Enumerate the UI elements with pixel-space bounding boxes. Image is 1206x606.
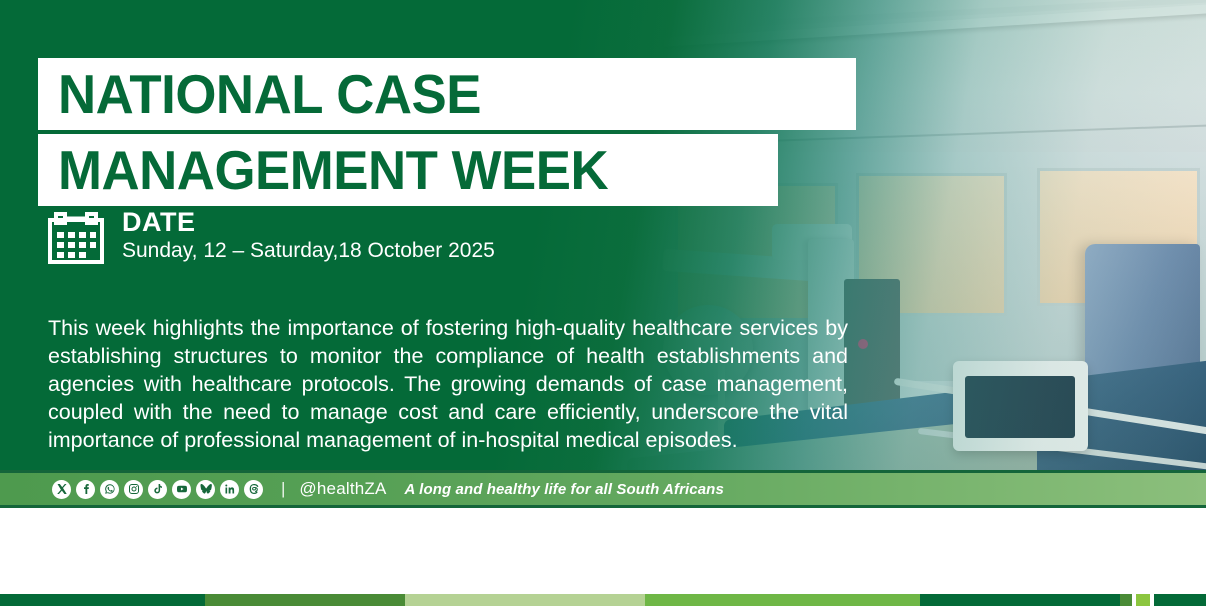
page-title-line2: MANAGEMENT WEEK — [58, 143, 608, 198]
footer-bar: health Department: Health REPUBLIC OF SO… — [0, 508, 1206, 594]
strip-segment — [205, 594, 405, 606]
strip-segment — [1154, 594, 1206, 606]
threads-icon[interactable] — [244, 480, 263, 499]
body-paragraph: This week highlights the importance of f… — [48, 314, 848, 455]
date-block: DATE Sunday, 12 – Saturday,18 October 20… — [48, 208, 495, 266]
bottom-color-strip — [0, 594, 1206, 606]
strip-segment — [645, 594, 920, 606]
date-label: DATE — [122, 208, 495, 236]
title-box-line2: MANAGEMENT WEEK — [38, 134, 778, 206]
social-separator: | — [281, 479, 285, 499]
bluesky-icon[interactable] — [196, 480, 215, 499]
strip-segment — [405, 594, 645, 606]
date-value: Sunday, 12 – Saturday,18 October 2025 — [122, 237, 495, 265]
poster-canvas: NATIONAL CASE MANAGEMENT WEEK — [0, 0, 1206, 606]
hero-section: NATIONAL CASE MANAGEMENT WEEK — [0, 0, 1206, 508]
strip-segment — [920, 594, 1120, 606]
social-icon-list — [52, 480, 263, 499]
social-media-band: | @healthZA A long and healthy life for … — [0, 470, 1206, 508]
instagram-icon[interactable] — [124, 480, 143, 499]
social-handle[interactable]: @healthZA — [299, 479, 386, 499]
tiktok-icon[interactable] — [148, 480, 167, 499]
x-icon[interactable] — [52, 480, 71, 499]
strip-segment — [0, 594, 205, 606]
title-box-line1: NATIONAL CASE — [38, 58, 856, 130]
linkedin-icon[interactable] — [220, 480, 239, 499]
date-texts: DATE Sunday, 12 – Saturday,18 October 20… — [122, 208, 495, 266]
page-title-line1: NATIONAL CASE — [58, 67, 481, 122]
youtube-icon[interactable] — [172, 480, 191, 499]
strip-segment — [1120, 594, 1132, 606]
calendar-icon — [48, 212, 104, 264]
facebook-icon[interactable] — [76, 480, 95, 499]
tagline: A long and healthy life for all South Af… — [405, 481, 724, 498]
whatsapp-icon[interactable] — [100, 480, 119, 499]
strip-segment — [1136, 594, 1150, 606]
